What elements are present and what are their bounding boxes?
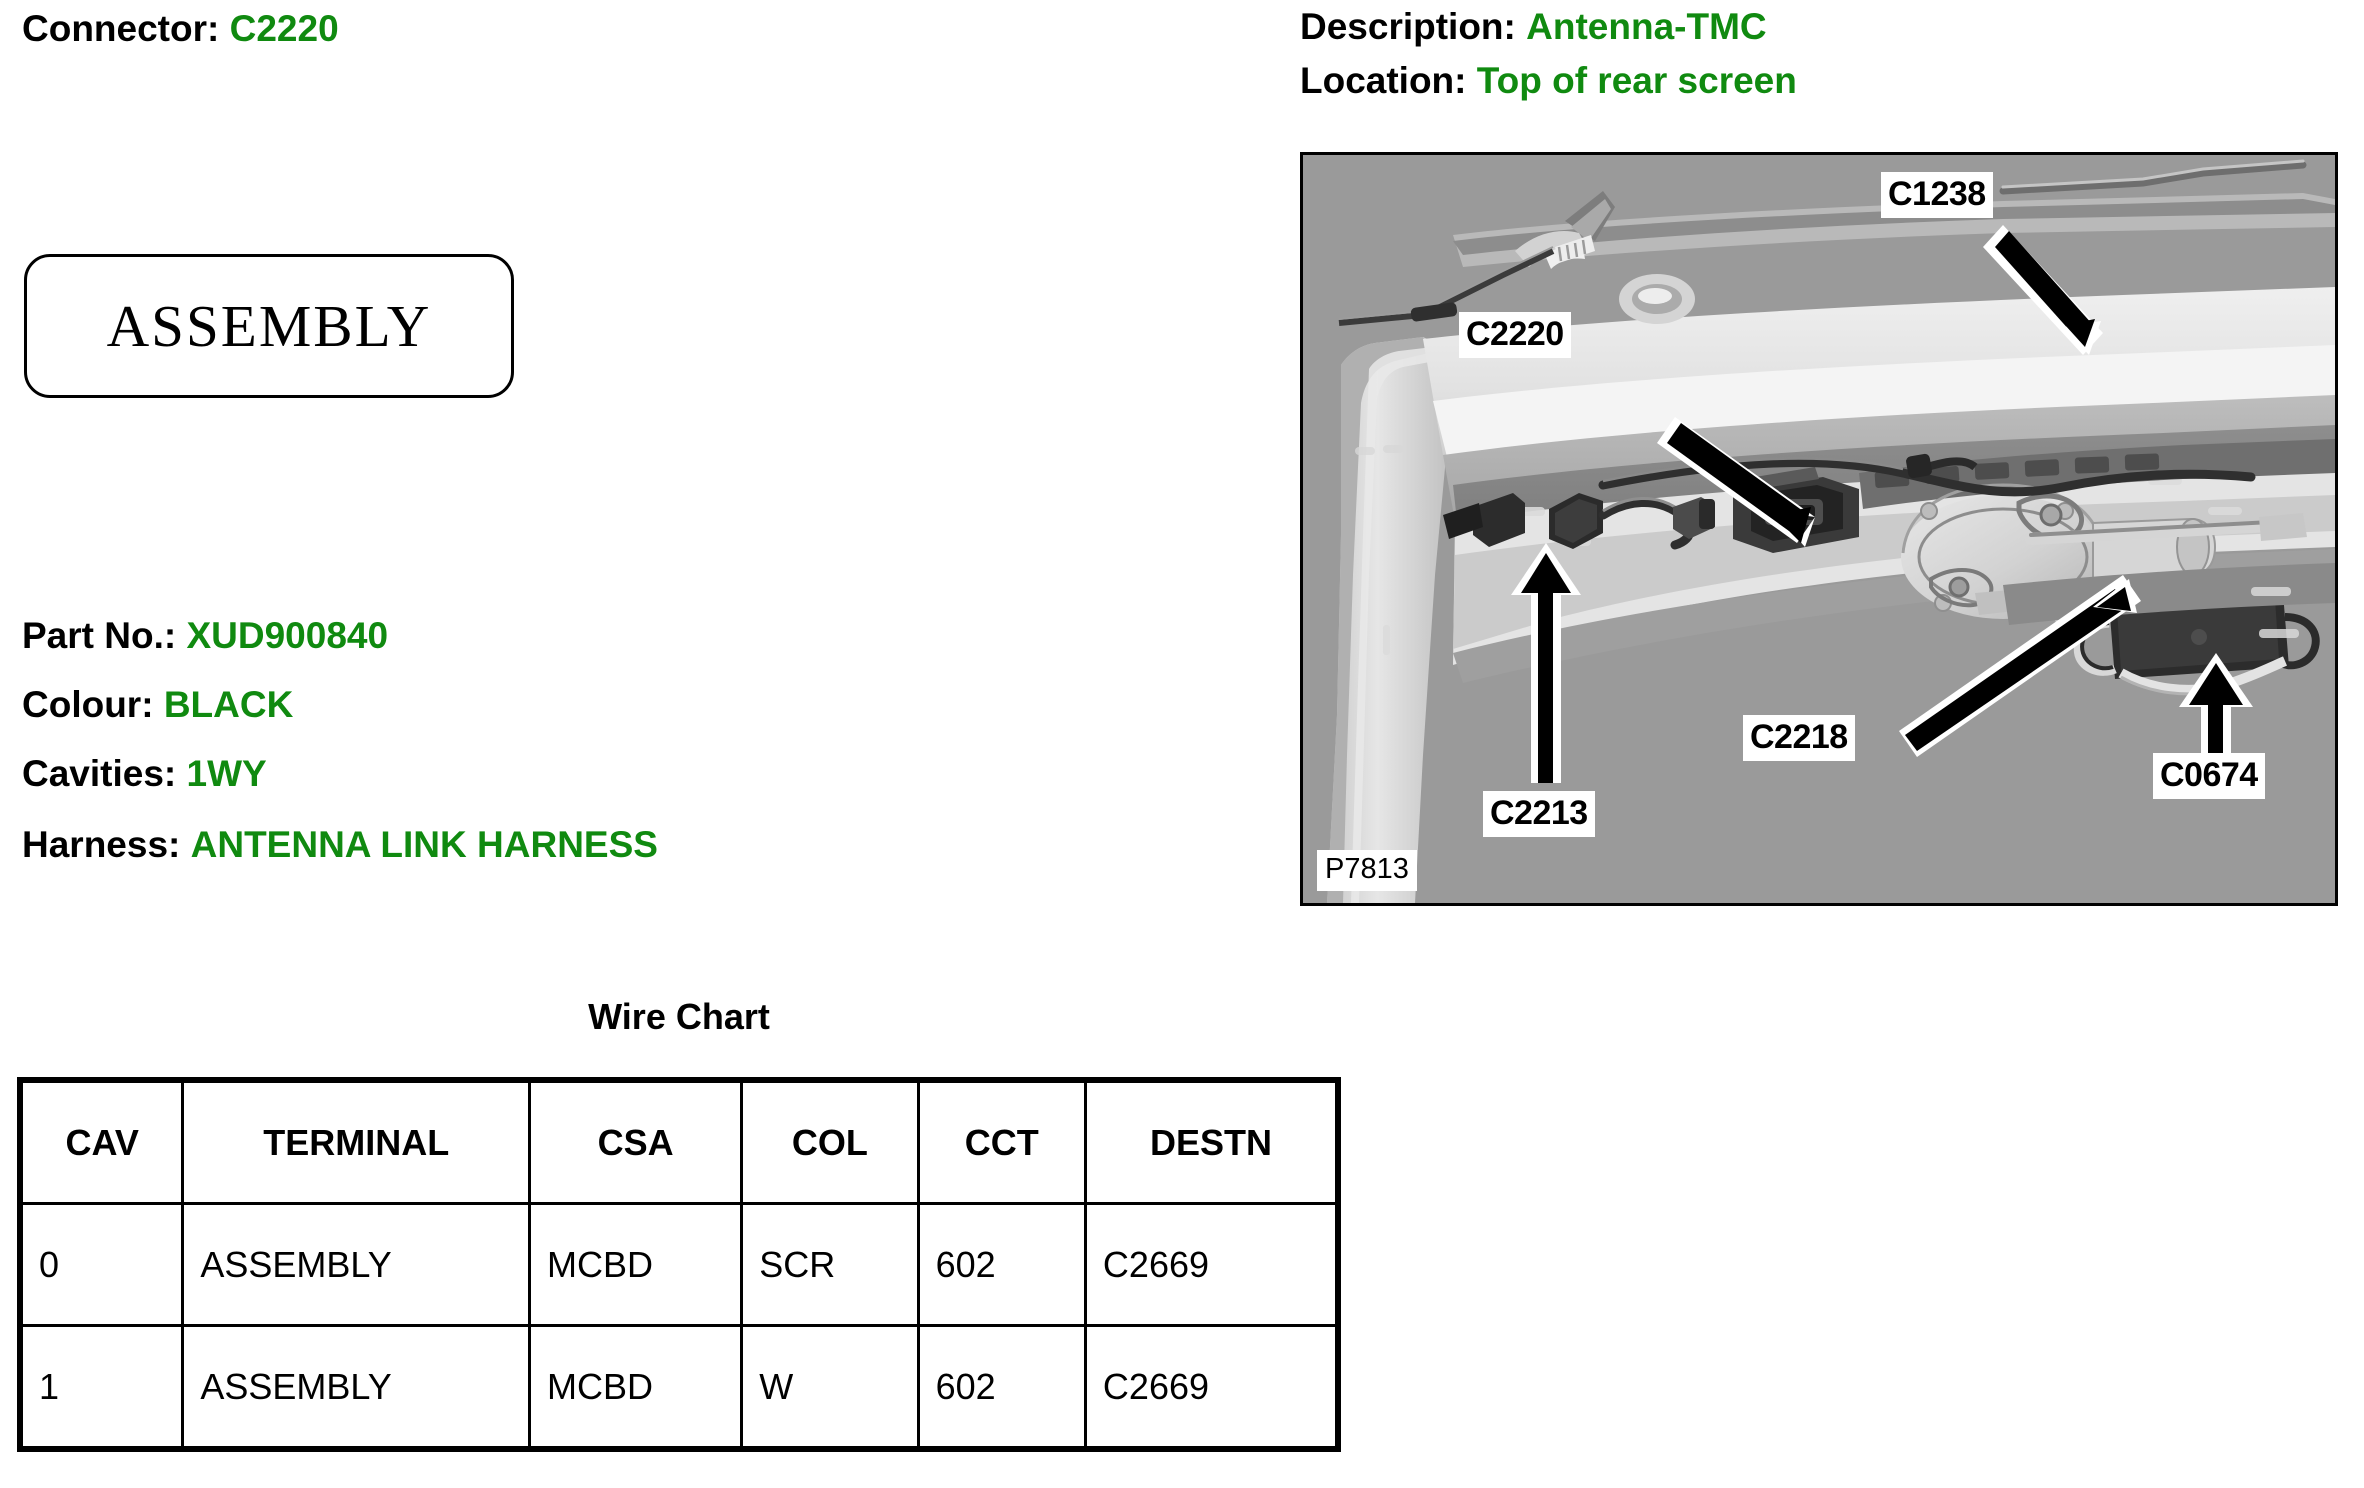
location-row: Location: Top of rear screen — [1300, 60, 1797, 102]
callout-label-c2213: C2213 — [1483, 791, 1595, 837]
location-value: Top of rear screen — [1477, 60, 1797, 101]
cell-cct: 602 — [918, 1204, 1085, 1326]
column-header-destn: DESTN — [1085, 1082, 1336, 1204]
assembly-badge-label: ASSEMBLY — [107, 292, 432, 361]
harness-value: ANTENNA LINK HARNESS — [191, 824, 658, 865]
description-block: Description: Antenna-TMC Location: Top o… — [1300, 6, 1797, 114]
detail-row-cavities: Cavities: 1WY — [22, 753, 658, 795]
assembly-badge: ASSEMBLY — [24, 254, 514, 398]
cell-col: SCR — [742, 1204, 918, 1326]
column-header-csa: CSA — [530, 1082, 742, 1204]
wire-chart-table: CAV TERMINAL CSA COL CCT DESTN 0 ASSEMBL… — [20, 1080, 1338, 1449]
harness-label: Harness: — [22, 824, 180, 865]
figure-reference-label: P7813 — [1317, 850, 1417, 891]
detail-row-colour: Colour: BLACK — [22, 684, 658, 726]
table-row: 0 ASSEMBLY MCBD SCR 602 C2669 — [22, 1204, 1337, 1326]
cell-csa: MCBD — [530, 1204, 742, 1326]
cell-cav: 0 — [22, 1204, 183, 1326]
cell-terminal: ASSEMBLY — [183, 1204, 530, 1326]
connector-heading: Connector: C2220 — [22, 8, 339, 50]
connector-value: C2220 — [230, 8, 339, 49]
connector-label: Connector: — [22, 8, 219, 49]
callout-label-c2220: C2220 — [1459, 312, 1571, 358]
cell-destn: C2669 — [1085, 1204, 1336, 1326]
description-label: Description: — [1300, 6, 1516, 47]
cell-col: W — [742, 1326, 918, 1448]
table-row: 1 ASSEMBLY MCBD W 602 C2669 — [22, 1326, 1337, 1448]
column-header-cav: CAV — [22, 1082, 183, 1204]
cell-csa: MCBD — [530, 1326, 742, 1448]
part-no-label: Part No.: — [22, 615, 176, 656]
callout-label-c1238: C1238 — [1881, 172, 1993, 218]
wire-chart-title: Wire Chart — [20, 996, 1338, 1038]
callout-label-c0674: C0674 — [2153, 753, 2265, 799]
column-header-terminal: TERMINAL — [183, 1082, 530, 1204]
table-header-row: CAV TERMINAL CSA COL CCT DESTN — [22, 1082, 1337, 1204]
callout-label-c2218: C2218 — [1743, 715, 1855, 761]
colour-value: BLACK — [164, 684, 293, 725]
cell-cct: 602 — [918, 1326, 1085, 1448]
description-row: Description: Antenna-TMC — [1300, 6, 1797, 48]
column-header-col: COL — [742, 1082, 918, 1204]
column-header-cct: CCT — [918, 1082, 1085, 1204]
detail-row-part-no: Part No.: XUD900840 — [22, 615, 658, 657]
cell-terminal: ASSEMBLY — [183, 1326, 530, 1448]
cell-cav: 1 — [22, 1326, 183, 1448]
detail-row-harness: Harness: ANTENNA LINK HARNESS — [22, 824, 658, 866]
location-label: Location: — [1300, 60, 1466, 101]
cavities-label: Cavities: — [22, 753, 176, 794]
description-value: Antenna-TMC — [1526, 6, 1766, 47]
cell-destn: C2669 — [1085, 1326, 1336, 1448]
connector-detail-list: Part No.: XUD900840 Colour: BLACK Caviti… — [22, 615, 658, 893]
connector-location-photo: C2220 C1238 C2218 C2213 C0674 P7813 — [1300, 152, 2338, 906]
colour-label: Colour: — [22, 684, 154, 725]
cavities-value: 1WY — [187, 753, 267, 794]
part-no-value: XUD900840 — [186, 615, 388, 656]
